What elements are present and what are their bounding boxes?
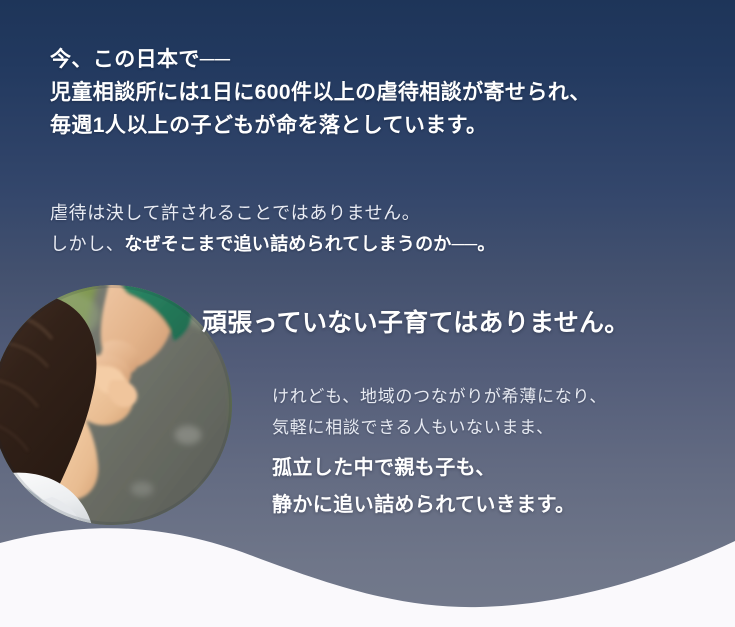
sub-paragraph: 虐待は決して許されることではありません。 しかし、なぜそこまで追い詰められてしま… xyxy=(50,198,496,260)
paragraph-spacer xyxy=(272,443,607,450)
lead-line-2: 児童相談所には1日に600件以上の虐待相談が寄せられ、 xyxy=(50,76,591,109)
content-text-layer: 今、この日本で── 児童相談所には1日に600件以上の虐待相談が寄せられ、 毎週… xyxy=(0,0,735,627)
sub-line-2-normal: しかし、 xyxy=(50,234,124,254)
right-line-2: 気軽に相談できる人もいないまま、 xyxy=(272,412,607,443)
sub-line-1: 虐待は決して許されることではありません。 xyxy=(50,198,496,229)
lead-line-1: 今、この日本で── xyxy=(50,43,591,76)
right-line-1: けれども、地域のつながりが希薄になり、 xyxy=(272,381,607,412)
right-line-4: 静かに追い詰められていきます。 xyxy=(272,487,607,524)
sub-line-2: しかし、なぜそこまで追い詰められてしまうのか──。 xyxy=(50,229,496,260)
lead-paragraph: 今、この日本で── 児童相談所には1日に600件以上の虐待相談が寄せられ、 毎週… xyxy=(50,43,591,142)
right-paragraph: けれども、地域のつながりが希薄になり、 気軽に相談できる人もいないまま、 孤立し… xyxy=(272,381,607,524)
sub-line-2-emphasis: なぜそこまで追い詰められてしまうのか──。 xyxy=(124,234,495,254)
lead-line-3: 毎週1人以上の子どもが命を落としています。 xyxy=(50,109,591,142)
page-headline: 頑張っていない子育てはありません。 xyxy=(202,303,630,339)
page-root: 今、この日本で── 児童相談所には1日に600件以上の虐待相談が寄せられ、 毎週… xyxy=(0,0,735,627)
right-line-3: 孤立した中で親も子も、 xyxy=(272,450,607,487)
